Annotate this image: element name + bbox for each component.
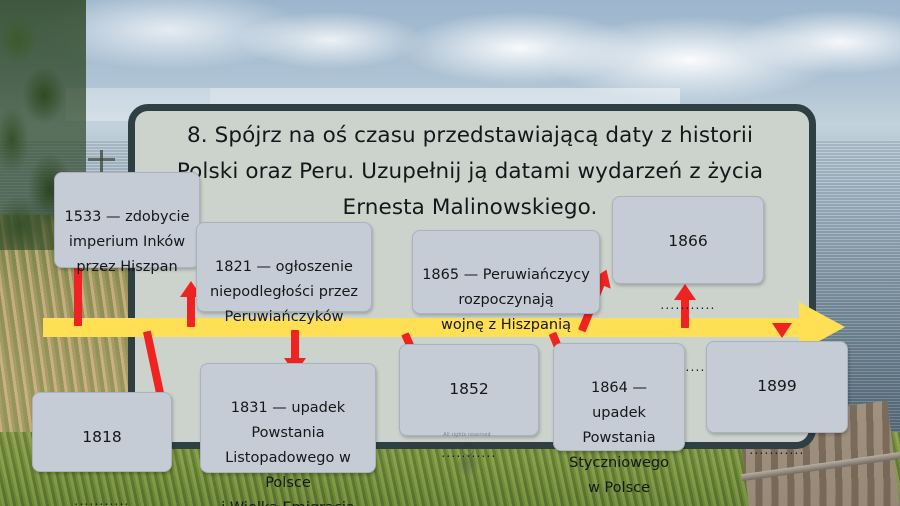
watermark-logo-icon [455,444,481,478]
card-blank-1866-1[interactable]: ........... [621,300,755,311]
card-text-1865: 1865 — Peruwiańczycy rozpoczynają wojnę … [422,267,590,333]
card-text-1821: 1821 — ogłoszenie niepodległości przez P… [210,259,358,325]
timeline-card-1831[interactable]: 1831 — upadek Powstania Listopadowego w … [200,363,376,473]
background-pole-arm [88,158,115,161]
timeline-card-1899[interactable]: 1899 ........... ........... [706,341,848,433]
timeline-card-1852[interactable]: 1852 ........... ........... [399,344,539,436]
card-year-1866: 1866 [621,229,755,253]
card-blank-1818-1[interactable]: ........... [41,496,163,506]
timeline-card-1864[interactable]: 1864 — upadek Powstania Styczniowego w P… [553,343,685,451]
timeline-card-1821[interactable]: 1821 — ogłoszenie niepodległości przez P… [196,222,372,312]
card-blank-1899-1[interactable]: ........... [715,445,839,456]
card-year-1899: 1899 [715,374,839,398]
timeline-card-1818[interactable]: 1818 ........... ........... [32,392,172,472]
timeline-card-1866[interactable]: 1866 ........... ........... [612,196,764,284]
card-year-1818: 1818 [41,425,163,449]
watermark-text: All rights reserved [404,432,530,438]
slide-canvas: 8. Spójrz na oś czasu przedstawiającą da… [0,0,900,506]
card-year-1852: 1852 [408,377,530,401]
timeline-card-1533[interactable]: 1533 — zdobycie imperium Inków przez His… [54,172,200,268]
timeline-card-1865[interactable]: 1865 — Peruwiańczycy rozpoczynają wojnę … [412,230,600,314]
card-text-1533: 1533 — zdobycie imperium Inków przez His… [64,209,189,275]
